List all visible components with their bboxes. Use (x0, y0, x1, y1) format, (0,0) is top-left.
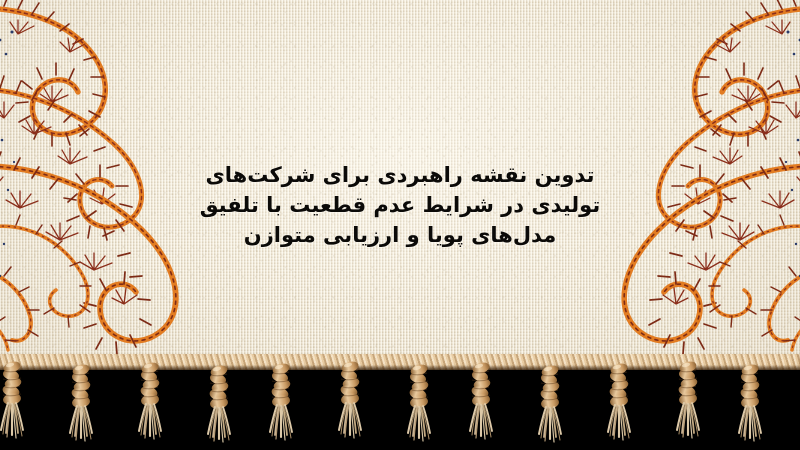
tassel (333, 360, 367, 442)
tassel (0, 360, 29, 442)
tassel (533, 364, 567, 446)
tassel (464, 361, 498, 443)
tassel (202, 364, 236, 446)
title-line-3: مدل‌های پویا و ارزیابی متوازن (150, 220, 650, 250)
title-line-2: تولیدی در شرایط عدم قطعیت با تلفیق (150, 190, 650, 220)
tassel (733, 363, 767, 445)
slide-title: تدوین نقشه راهبردی برای شرکت‌های تولیدی … (150, 160, 650, 250)
tassel (602, 362, 636, 444)
slide-canvas: تدوین نقشه راهبردی برای شرکت‌های تولیدی … (0, 0, 800, 450)
title-line-1: تدوین نقشه راهبردی برای شرکت‌های (150, 160, 650, 190)
tassel (64, 363, 98, 445)
tassel (671, 360, 705, 442)
tassel-fringe (0, 362, 800, 450)
tassel (264, 362, 298, 444)
fabric-edge-shadow (0, 365, 800, 370)
tassel (133, 361, 167, 443)
tassel (402, 363, 436, 445)
